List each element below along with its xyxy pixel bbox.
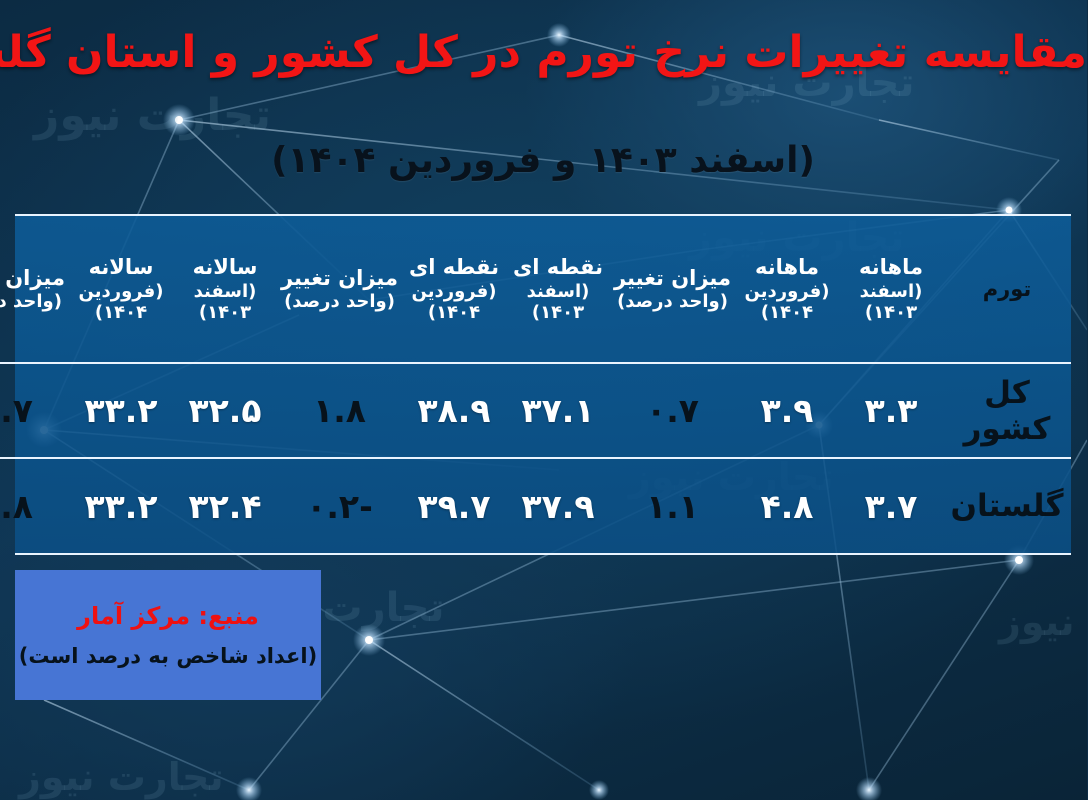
title-block: مقایسه تغییرات نرخ تورم در کل کشور و است…: [0, 28, 1088, 79]
column-header-main: نقطه ای: [509, 254, 609, 280]
column-header-topic: تورم: [944, 216, 1072, 363]
column-header-monthly-farvardin: ماهانه (فروردین ۱۴۰۴): [736, 216, 840, 363]
column-header-main: نقطه ای: [405, 254, 505, 280]
column-header-sub: (اسفند ۱۴۰۳): [842, 281, 942, 324]
cell-pointwise-change: -۰.۲: [278, 458, 403, 553]
column-header-sub: (واحد درصد): [0, 291, 68, 313]
column-header-topic-label: تورم: [946, 276, 1070, 302]
cell-monthly-change: ۱.۱: [611, 458, 736, 553]
column-header-main: سالانه: [176, 254, 276, 280]
watermark-text: تجارت نیوز: [20, 755, 225, 799]
column-header-pointwise-change: میزان تغییر (واحد درصد): [278, 216, 403, 363]
column-header-main: میزان تغییر: [280, 265, 401, 291]
page-subtitle: (اسفند ۱۴۰۳ و فروردین ۱۴۰۴): [0, 140, 1088, 181]
column-header-monthly-esfand: ماهانه (اسفند ۱۴۰۳): [840, 216, 944, 363]
cell-monthly-change: ۰.۷: [611, 363, 736, 458]
cell-pointwise-esfand: ۳۷.۱: [507, 363, 611, 458]
source-label: منبع: مرکز آمار: [78, 602, 260, 630]
watermark-text: تجارت نیوز: [1000, 600, 1088, 644]
table-header-row: تورم ماهانه (اسفند ۱۴۰۳) ماهانه (فروردین…: [0, 216, 1072, 363]
page-title: مقایسه تغییرات نرخ تورم در کل کشور و است…: [0, 28, 1088, 79]
row-label-golestan: گلستان: [944, 458, 1072, 553]
column-header-sub: (واحد درصد): [280, 291, 401, 313]
column-header-annual-farvardin: سالانه (فروردین ۱۴۰۴): [70, 216, 174, 363]
cell-monthly-farvardin: ۴.۸: [736, 458, 840, 553]
cell-annual-change: ۰.۸: [0, 458, 70, 553]
column-header-main: میزان تغییر: [613, 265, 734, 291]
cell-annual-farvardin: ۳۳.۲: [70, 458, 174, 553]
column-header-monthly-change: میزان تغییر (واحد درصد): [611, 216, 736, 363]
cell-pointwise-esfand: ۳۷.۹: [507, 458, 611, 553]
column-header-sub: (فروردین ۱۴۰۴): [738, 281, 838, 324]
column-header-sub: (فروردین ۱۴۰۴): [405, 281, 505, 324]
cell-annual-change: ۰.۷: [0, 363, 70, 458]
cell-monthly-esfand: ۳.۷: [840, 458, 944, 553]
cell-pointwise-farvardin: ۳۹.۷: [403, 458, 507, 553]
cell-annual-esfand: ۳۲.۴: [174, 458, 278, 553]
source-box: منبع: مرکز آمار (اعداد شاخص به درصد است): [16, 570, 322, 700]
cell-pointwise-farvardin: ۳۸.۹: [403, 363, 507, 458]
column-header-pointwise-farvardin: نقطه ای (فروردین ۱۴۰۴): [403, 216, 507, 363]
column-header-sub: (اسفند ۱۴۰۳): [509, 281, 609, 324]
column-header-annual-esfand: سالانه (اسفند ۱۴۰۳): [174, 216, 278, 363]
table-row: کل کشور ۳.۳ ۳.۹ ۰.۷ ۳۷.۱ ۳۸.۹ ۱.۸ ۳۲.۵ ۳…: [0, 363, 1072, 458]
table-header: تورم ماهانه (اسفند ۱۴۰۳) ماهانه (فروردین…: [0, 216, 1072, 363]
cell-annual-esfand: ۳۲.۵: [174, 363, 278, 458]
source-note: (اعداد شاخص به درصد است): [20, 644, 318, 668]
column-header-main: ماهانه: [842, 254, 942, 280]
column-header-sub: (واحد درصد): [613, 291, 734, 313]
column-header-sub: (اسفند ۱۴۰۳): [176, 281, 276, 324]
column-header-annual-change: میزان تغییر (واحد درصد): [0, 216, 70, 363]
column-header-main: ماهانه: [738, 254, 838, 280]
cell-pointwise-change: ۱.۸: [278, 363, 403, 458]
table-body: کل کشور ۳.۳ ۳.۹ ۰.۷ ۳۷.۱ ۳۸.۹ ۱.۸ ۳۲.۵ ۳…: [0, 363, 1072, 553]
table-row: گلستان ۳.۷ ۴.۸ ۱.۱ ۳۷.۹ ۳۹.۷ -۰.۲ ۳۲.۴ ۳…: [0, 458, 1072, 553]
row-label-country: کل کشور: [944, 363, 1072, 458]
cell-annual-farvardin: ۳۳.۲: [70, 363, 174, 458]
column-header-pointwise-esfand: نقطه ای (اسفند ۱۴۰۳): [507, 216, 611, 363]
inflation-table: تورم ماهانه (اسفند ۱۴۰۳) ماهانه (فروردین…: [0, 216, 1072, 553]
column-header-main: میزان تغییر: [0, 265, 68, 291]
cell-monthly-esfand: ۳.۳: [840, 363, 944, 458]
watermark-text: تجارت نیوز: [35, 90, 272, 141]
column-header-main: سالانه: [72, 254, 172, 280]
inflation-table-container: تورم ماهانه (اسفند ۱۴۰۳) ماهانه (فروردین…: [16, 214, 1072, 555]
cell-monthly-farvardin: ۳.۹: [736, 363, 840, 458]
column-header-sub: (فروردین ۱۴۰۴): [72, 281, 172, 324]
